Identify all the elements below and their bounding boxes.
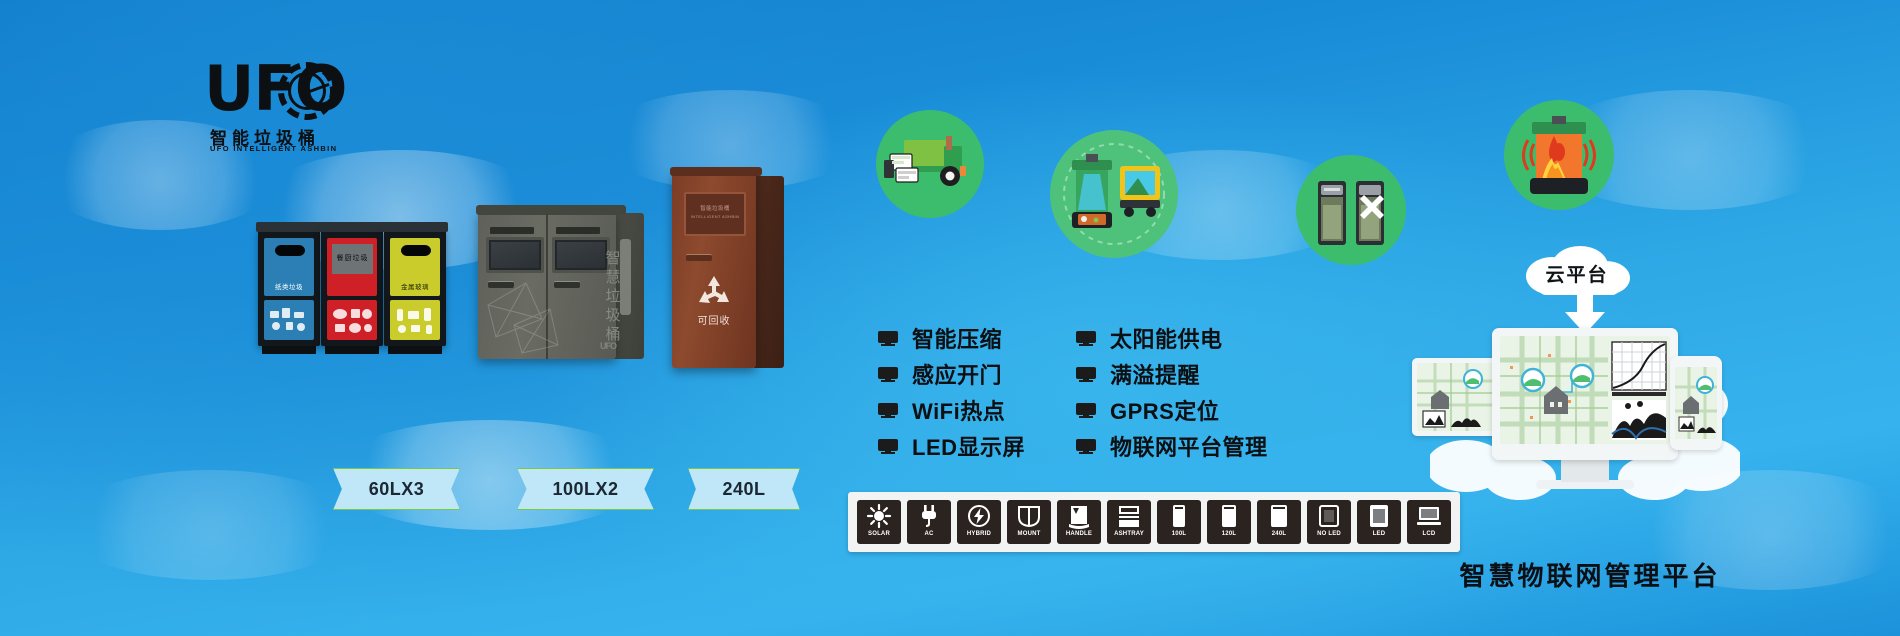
feature-item: GPRS定位 <box>1076 392 1268 428</box>
monitor-icon <box>1076 367 1096 382</box>
bin-120l-icon <box>1215 503 1243 529</box>
spec-label: 100L <box>1172 530 1186 538</box>
feature-label: GPRS定位 <box>1110 394 1219 426</box>
bin-face: 金属玻璃 <box>390 238 440 296</box>
product-three-bin-set: 纸类垃圾 餐厨垃圾 <box>258 228 446 360</box>
bin-lower-face <box>327 300 377 340</box>
bin-lid <box>256 222 322 232</box>
spec-tile-hybrid: HYBRID <box>957 500 1001 544</box>
monitor-device <box>1492 328 1678 460</box>
monitor-icon <box>878 367 898 382</box>
bin-lid <box>319 222 385 232</box>
ashtray-icon <box>1115 503 1143 529</box>
monitor-icon <box>1076 331 1096 346</box>
monitor-icon <box>1076 403 1096 418</box>
feature-label: 感应开门 <box>912 358 1002 390</box>
feature-item: 太阳能供电 <box>1076 320 1268 356</box>
bin-240l-icon <box>1265 503 1293 529</box>
spec-tile-handle: HANDLE <box>1057 500 1101 544</box>
led-icon <box>1365 503 1393 529</box>
capacity-ribbon-240l: 240L <box>688 468 800 510</box>
bin-base <box>262 346 316 354</box>
feature-label: 物联网平台管理 <box>1110 430 1268 462</box>
bin-display-right <box>552 237 610 273</box>
bin-slot-icon <box>275 245 305 256</box>
power-plug-icon <box>915 503 943 529</box>
bin-screen-label <box>490 227 534 234</box>
bin-label: 纸类垃圾 <box>264 281 314 291</box>
bin-sign-plate: 餐厨垃圾 <box>332 244 373 274</box>
feature-circle-fire-alarm <box>1504 100 1614 210</box>
no-led-icon <box>1315 503 1343 529</box>
logo-english-name: UFO INTELLIGENT ASHBIN <box>210 144 337 153</box>
bin-handle <box>686 254 712 261</box>
cloud-platform-tag: 云平台 <box>1518 246 1636 298</box>
bin-base <box>325 346 379 354</box>
bin-lower-face <box>390 300 440 340</box>
recycle-icon <box>696 274 732 308</box>
bin-face: 餐厨垃圾 <box>327 238 377 296</box>
spec-label: SOLAR <box>868 530 890 538</box>
monitor-icon <box>1076 439 1096 454</box>
monitor-icon <box>878 439 898 454</box>
bin-panel-kitchen: 餐厨垃圾 <box>321 228 383 346</box>
capacity-ribbon-100lx2: 100LX2 <box>517 468 654 510</box>
monitor-neck <box>1561 460 1609 482</box>
spec-tile-100l: 100L <box>1157 500 1201 544</box>
bin-graphic-icon <box>327 300 377 340</box>
bin-recycle-label: 可回收 <box>672 312 756 327</box>
bin-face: 纸类垃圾 <box>264 238 314 296</box>
product-single-brown-bin: 智能垃圾桶INTELLIGENT ASHBIN 可回收 <box>672 172 788 372</box>
bin-display: 智能垃圾桶INTELLIGENT ASHBIN <box>684 192 746 236</box>
feature-column-left: 智能压缩 感应开门 WiFi热点 LED显示屏 <box>878 320 1025 464</box>
bin-vertical-text: 智慧垃圾桶 <box>604 249 622 344</box>
phone-device <box>1670 356 1722 450</box>
feature-item: LED显示屏 <box>878 428 1025 464</box>
spec-label: HANDLE <box>1066 530 1092 538</box>
spec-label: MOUNT <box>1018 530 1041 538</box>
feature-item: 感应开门 <box>878 356 1025 392</box>
bin-display-left <box>486 237 544 273</box>
sun-icon <box>865 503 893 529</box>
wall-mount-icon <box>1015 503 1043 529</box>
map-dashboard-icon <box>1417 363 1495 431</box>
bin-panel-paper: 纸类垃圾 <box>258 228 320 346</box>
bin-100l-icon <box>1165 503 1193 529</box>
spec-label: 120L <box>1222 530 1236 538</box>
phone-screen <box>1675 367 1717 439</box>
monitor-icon <box>878 331 898 346</box>
iot-dashboard-icon <box>1500 336 1670 444</box>
bin-base <box>388 346 442 354</box>
spec-label: HYBRID <box>967 530 991 538</box>
fire-alarm-bin-icon <box>1504 100 1614 210</box>
spec-tile-led: LED <box>1357 500 1401 544</box>
spec-tile-solar: SOLAR <box>857 500 901 544</box>
bin-slot-icon <box>401 245 431 256</box>
feature-column-right: 太阳能供电 满溢提醒 GPRS定位 物联网平台管理 <box>1076 320 1268 464</box>
tablet-screen <box>1417 363 1495 431</box>
bin-display-text: 智能垃圾桶INTELLIGENT ASHBIN <box>686 205 744 221</box>
bin-lid <box>382 222 448 232</box>
product-double-smart-bin: 智慧垃圾桶 UFO <box>478 205 650 365</box>
fill-level-bins-icon <box>1296 155 1406 265</box>
bin-graphic-icon <box>264 300 314 340</box>
solar-bin-icon <box>1050 130 1178 258</box>
capacity-ribbon-60lx3: 60LX3 <box>333 468 460 510</box>
brand-logo: UFO 智能垃圾桶 UFO INTELLIGENT ASHBIN <box>204 58 344 154</box>
spec-label: 240L <box>1272 530 1286 538</box>
bin-side-column <box>754 176 784 368</box>
iot-platform-illustration <box>1430 300 1740 540</box>
hybrid-bolt-icon <box>965 503 993 529</box>
spec-tile-ashtray: ASHTRAY <box>1107 500 1151 544</box>
spec-icon-strip: SOLAR AC HYBRID MOUNT HANDLE <box>848 492 1460 552</box>
bin-label: 餐厨垃圾 <box>332 253 373 263</box>
bin-lid <box>476 205 626 215</box>
spec-tile-120l: 120L <box>1207 500 1251 544</box>
garbage-truck-icon <box>876 110 984 218</box>
feature-label: 智能压缩 <box>912 322 1002 354</box>
feature-label: WiFi热点 <box>912 394 1005 426</box>
spec-tile-ac: AC <box>907 500 951 544</box>
spec-tile-mount: MOUNT <box>1007 500 1051 544</box>
bin-lower-face <box>264 300 314 340</box>
feature-item: 物联网平台管理 <box>1076 428 1268 464</box>
capacity-label: 60LX3 <box>369 479 425 500</box>
bin-screen-label <box>556 227 600 234</box>
spec-label: LED <box>1373 530 1386 538</box>
monitor-screen <box>1500 336 1670 444</box>
capacity-label: 240L <box>722 479 765 500</box>
feature-item: 满溢提醒 <box>1076 356 1268 392</box>
monitor-icon <box>878 403 898 418</box>
bin-lid <box>670 167 762 176</box>
feature-label: LED显示屏 <box>912 430 1025 462</box>
feature-circle-collection-truck <box>876 110 984 218</box>
feature-circle-fill-level <box>1296 155 1406 265</box>
feature-item: WiFi热点 <box>878 392 1025 428</box>
tablet-device <box>1412 358 1500 436</box>
spec-tile-240l: 240L <box>1257 500 1301 544</box>
spec-label: AC <box>924 530 933 538</box>
cloud-decoration <box>60 470 360 580</box>
platform-caption: 智慧物联网管理平台 <box>1380 556 1800 593</box>
feature-circle-solar-bin <box>1050 130 1178 258</box>
spec-label: ASHTRAY <box>1114 530 1144 538</box>
bin-panel-metal-glass: 金属玻璃 <box>384 228 446 346</box>
feature-label: 太阳能供电 <box>1110 322 1223 354</box>
handle-icon <box>1065 503 1093 529</box>
feature-item: 智能压缩 <box>878 320 1025 356</box>
feature-label: 满溢提醒 <box>1110 358 1200 390</box>
banner-canvas: UFO 智能垃圾桶 UFO INTELLIGENT ASHBIN 纸类垃圾 <box>0 0 1900 636</box>
spec-tile-no-led: NO LED <box>1307 500 1351 544</box>
bin-graphic-icon <box>390 300 440 340</box>
cloud-platform-label: 云平台 <box>1518 260 1636 287</box>
spec-label: NO LED <box>1317 530 1341 538</box>
capacity-label: 100LX2 <box>552 479 618 500</box>
bin-polygon-decoration <box>484 275 604 357</box>
bin-label: 金属玻璃 <box>390 281 440 291</box>
mobile-dashboard-icon <box>1675 367 1717 439</box>
